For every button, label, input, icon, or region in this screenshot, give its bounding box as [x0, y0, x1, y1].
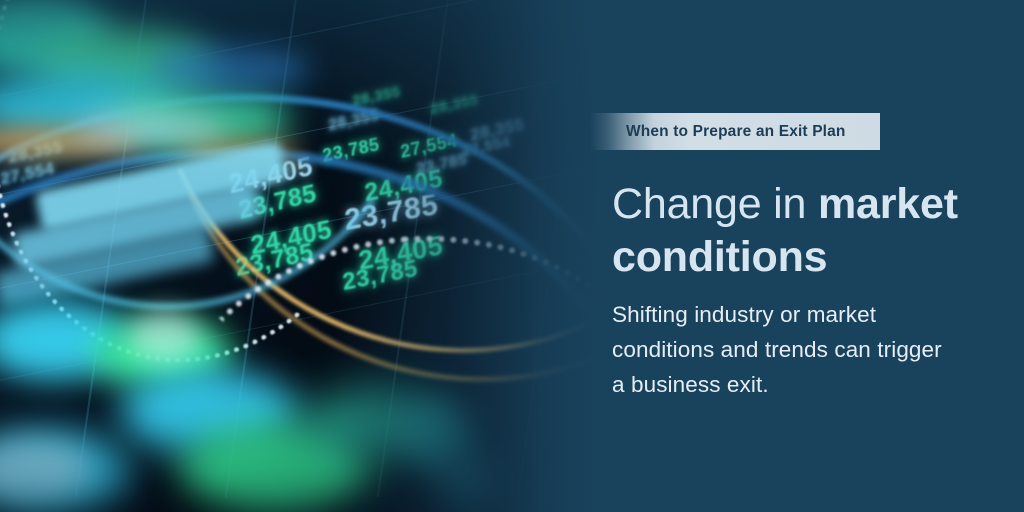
badge-label: When to Prepare an Exit Plan	[626, 123, 846, 141]
page-title: Change in market conditions	[612, 178, 1012, 284]
exit-plan-banner: 24,40523,78524,40523,78524,40523,78524,4…	[0, 0, 1024, 512]
section-eyebrow-badge: When to Prepare an Exit Plan	[590, 113, 880, 150]
headline-light-text: Change in	[612, 180, 818, 228]
body-paragraph: Shifting industry or market conditions a…	[612, 297, 952, 402]
text-panel: When to Prepare an Exit Plan Change in m…	[576, 0, 1024, 512]
